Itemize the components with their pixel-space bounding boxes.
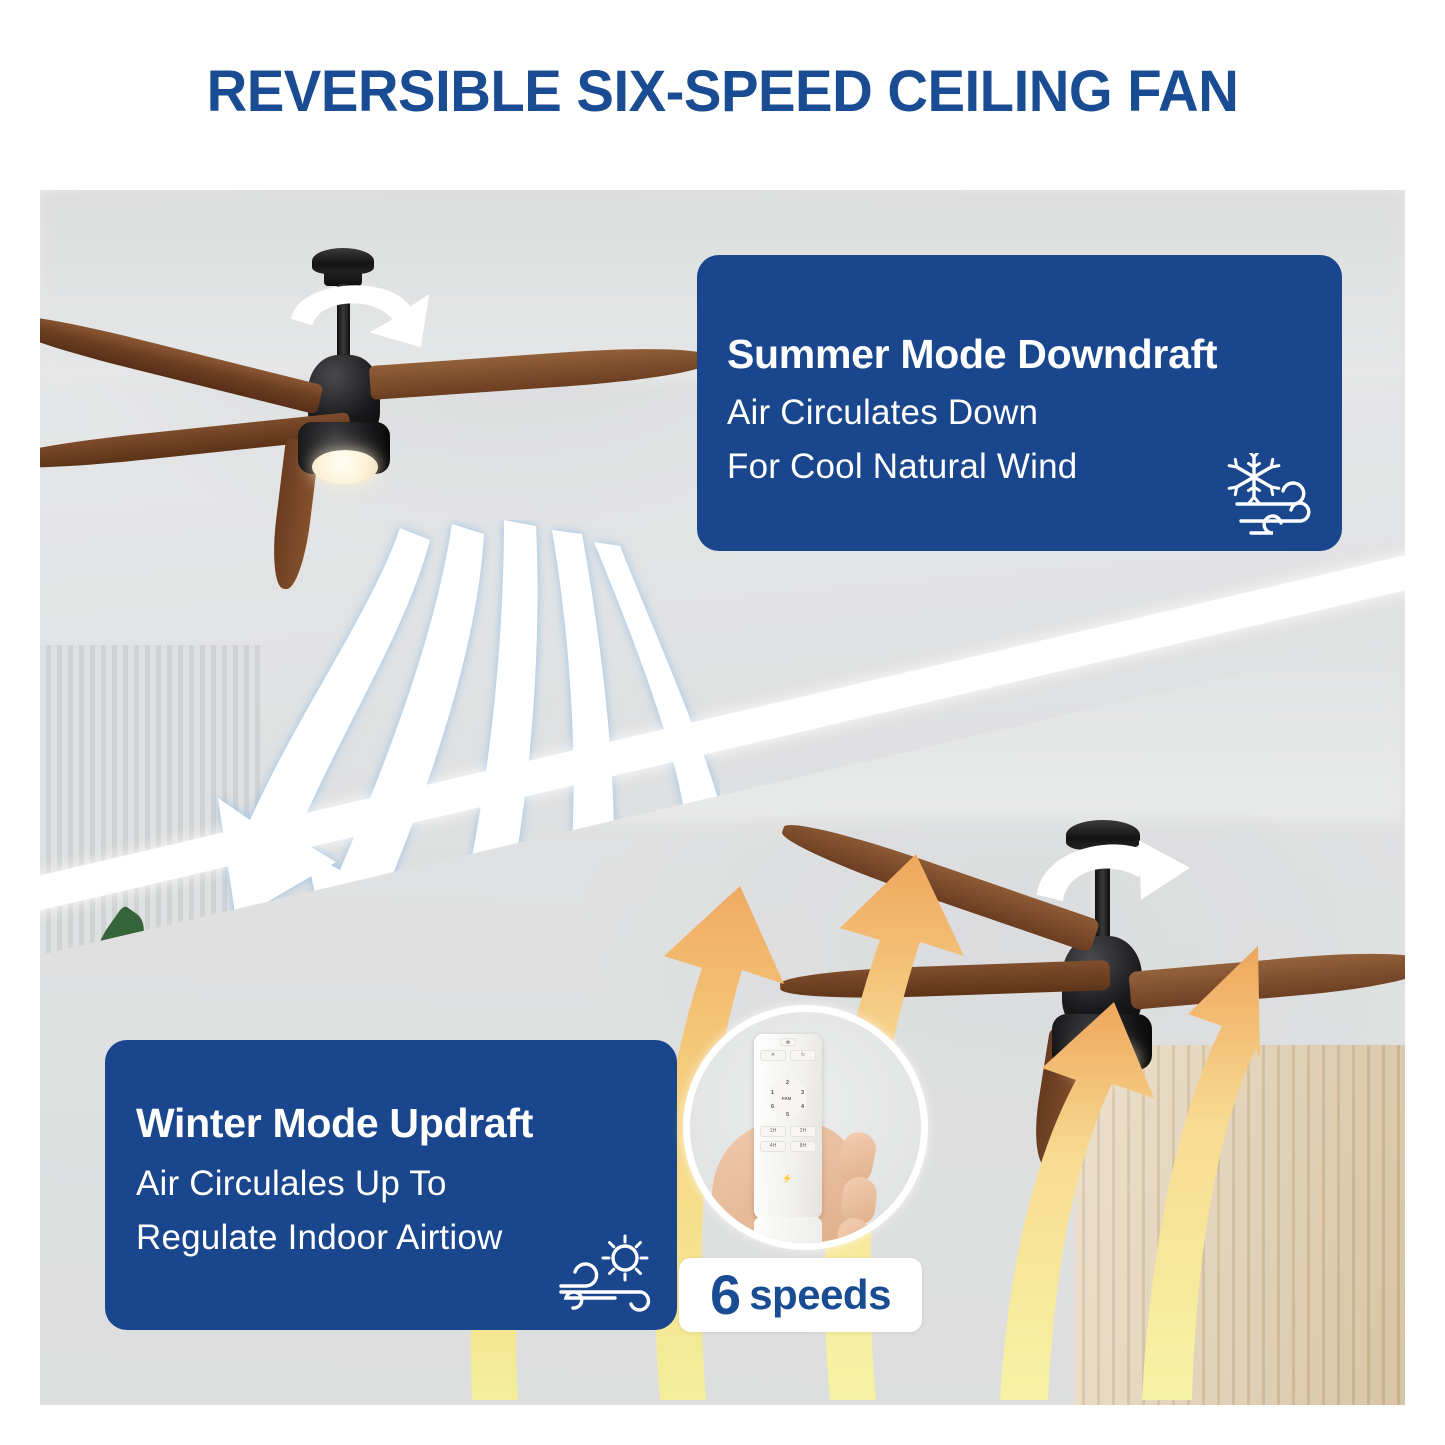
remote-timer-4h[interactable]: 4H xyxy=(760,1141,786,1152)
remote-timer-2h[interactable]: 2H xyxy=(790,1126,816,1137)
speed-badge-number: 6 xyxy=(710,1267,740,1323)
remote-timer-8h[interactable]: 8H xyxy=(790,1141,816,1152)
remote-power-button[interactable]: ⚡ xyxy=(778,1174,796,1186)
summer-card-line-2: For Cool Natural Wind xyxy=(727,447,1077,487)
remote-timer-1h[interactable]: 1H xyxy=(760,1126,786,1137)
summer-card-line-1: Air Circulates Down xyxy=(727,393,1038,433)
remote-control-highlight: ❁ ☀ ↻ 2 1 3 6 4 5 FAN 1H 2H 4H 8H ⚡ xyxy=(683,1005,928,1250)
remote-speed-6[interactable]: 6 xyxy=(771,1104,774,1110)
speed-badge-label: speeds xyxy=(749,1274,891,1316)
remote-mode-button[interactable]: ↻ xyxy=(790,1050,816,1061)
remote-control[interactable]: ❁ ☀ ↻ 2 1 3 6 4 5 FAN 1H 2H 4H 8H ⚡ xyxy=(754,1034,822,1219)
remote-speed-2[interactable]: 2 xyxy=(786,1080,789,1086)
remote-speed-3[interactable]: 3 xyxy=(801,1090,804,1096)
remote-speed-5[interactable]: 5 xyxy=(786,1112,789,1118)
snowflake-wind-icon xyxy=(1221,453,1321,537)
sun-wind-icon xyxy=(553,1232,657,1320)
winter-card-heading: Winter Mode Updraft xyxy=(136,1100,533,1147)
winter-mode-card: Winter Mode Updraft Air Circulales Up To… xyxy=(105,1040,677,1330)
summer-mode-card: Summer Mode Downdraft Air Circulates Dow… xyxy=(697,255,1342,551)
product-infographic: REVERSIBLE SIX-SPEED CEILING FAN xyxy=(0,0,1445,1445)
remote-speed-4[interactable]: 4 xyxy=(801,1104,804,1110)
summer-card-heading: Summer Mode Downdraft xyxy=(727,331,1217,378)
rotation-arrow-icon xyxy=(260,260,440,390)
remote-fan-button[interactable]: ❁ xyxy=(780,1038,796,1046)
remote-light-button[interactable]: ☀ xyxy=(760,1050,786,1061)
remote-center-label: FAN xyxy=(782,1096,791,1101)
remote-speed-1[interactable]: 1 xyxy=(771,1090,774,1096)
page-title: REVERSIBLE SIX-SPEED CEILING FAN xyxy=(22,58,1424,125)
speed-badge: 6 speeds xyxy=(679,1258,922,1332)
winter-card-line-1: Air Circulales Up To xyxy=(136,1164,447,1204)
winter-card-line-2: Regulate Indoor Airtiow xyxy=(136,1218,502,1258)
